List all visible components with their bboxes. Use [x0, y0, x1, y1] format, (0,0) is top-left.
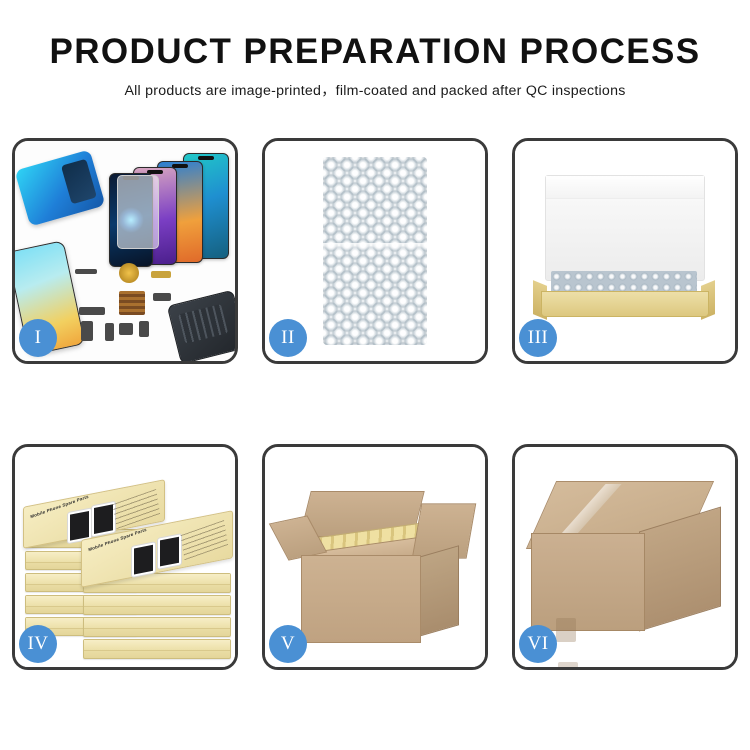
- process-step-panel-6: VI: [512, 444, 738, 670]
- screen-image-on-box: [92, 502, 115, 536]
- step-badge-2: II: [269, 319, 307, 357]
- process-step-panel-4: Mobile Phone Spare Parts Mobile Phone Sp…: [12, 444, 238, 670]
- stacked-box: [83, 595, 231, 615]
- speaker-part-icon: [119, 263, 139, 283]
- product-preparation-infographic: PRODUCT PREPARATION PROCESS All products…: [0, 0, 750, 750]
- screen-image-on-box: [132, 542, 155, 576]
- phone-screen-fan-icon: [81, 151, 231, 271]
- carton-flap-tab: [558, 662, 578, 667]
- camera-part-icon: [119, 323, 133, 335]
- bubble-texture: [323, 157, 427, 345]
- flex-cable-part-icon: [153, 293, 171, 301]
- spare-parts-group: [75, 263, 235, 361]
- box-spec-lines: [113, 489, 161, 529]
- screen-image-on-box: [158, 534, 181, 568]
- stacked-box: [83, 639, 231, 659]
- phone-backplate-icon: [167, 290, 235, 361]
- box-lid: [545, 175, 705, 281]
- process-step-panel-5: V: [262, 444, 488, 670]
- page-title: PRODUCT PREPARATION PROCESS: [0, 32, 750, 71]
- header: PRODUCT PREPARATION PROCESS All products…: [0, 0, 750, 100]
- sealed-shipping-carton-icon: [531, 481, 721, 641]
- connector-part-icon: [81, 321, 93, 341]
- carton-front-panel: [301, 555, 421, 643]
- step-badge-5: V: [269, 625, 307, 663]
- page-subtitle: All products are image-printed，film-coat…: [0, 80, 750, 100]
- open-flat-box-icon: [531, 175, 717, 325]
- phone-notch-icon: [198, 156, 214, 160]
- bubble-wrapped-package-icon: [323, 157, 427, 345]
- process-step-panel-2: II: [262, 138, 488, 364]
- step-badge-3: III: [519, 319, 557, 357]
- step-badge-6: VI: [519, 625, 557, 663]
- chip-part-icon: [119, 291, 145, 315]
- process-step-panel-1: I: [12, 138, 238, 364]
- connector-part-icon: [105, 323, 114, 341]
- carton-front-panel: [531, 533, 645, 631]
- carton-flap-tab: [556, 618, 576, 642]
- flex-cable-part-icon: [79, 307, 105, 315]
- flex-cable-part-icon: [75, 269, 97, 274]
- box-front-panel: [541, 291, 709, 317]
- stacked-box: [83, 617, 231, 637]
- button-part-icon: [151, 271, 171, 278]
- step-badge-4: IV: [19, 625, 57, 663]
- step-badge-1: I: [19, 319, 57, 357]
- process-steps-grid: I II III: [12, 138, 738, 670]
- box-spec-lines: [181, 520, 229, 560]
- connector-part-icon: [139, 321, 149, 337]
- open-shipping-carton-icon: [279, 473, 471, 649]
- screen-protector-film-icon: [117, 175, 159, 249]
- process-step-panel-3: III: [512, 138, 738, 364]
